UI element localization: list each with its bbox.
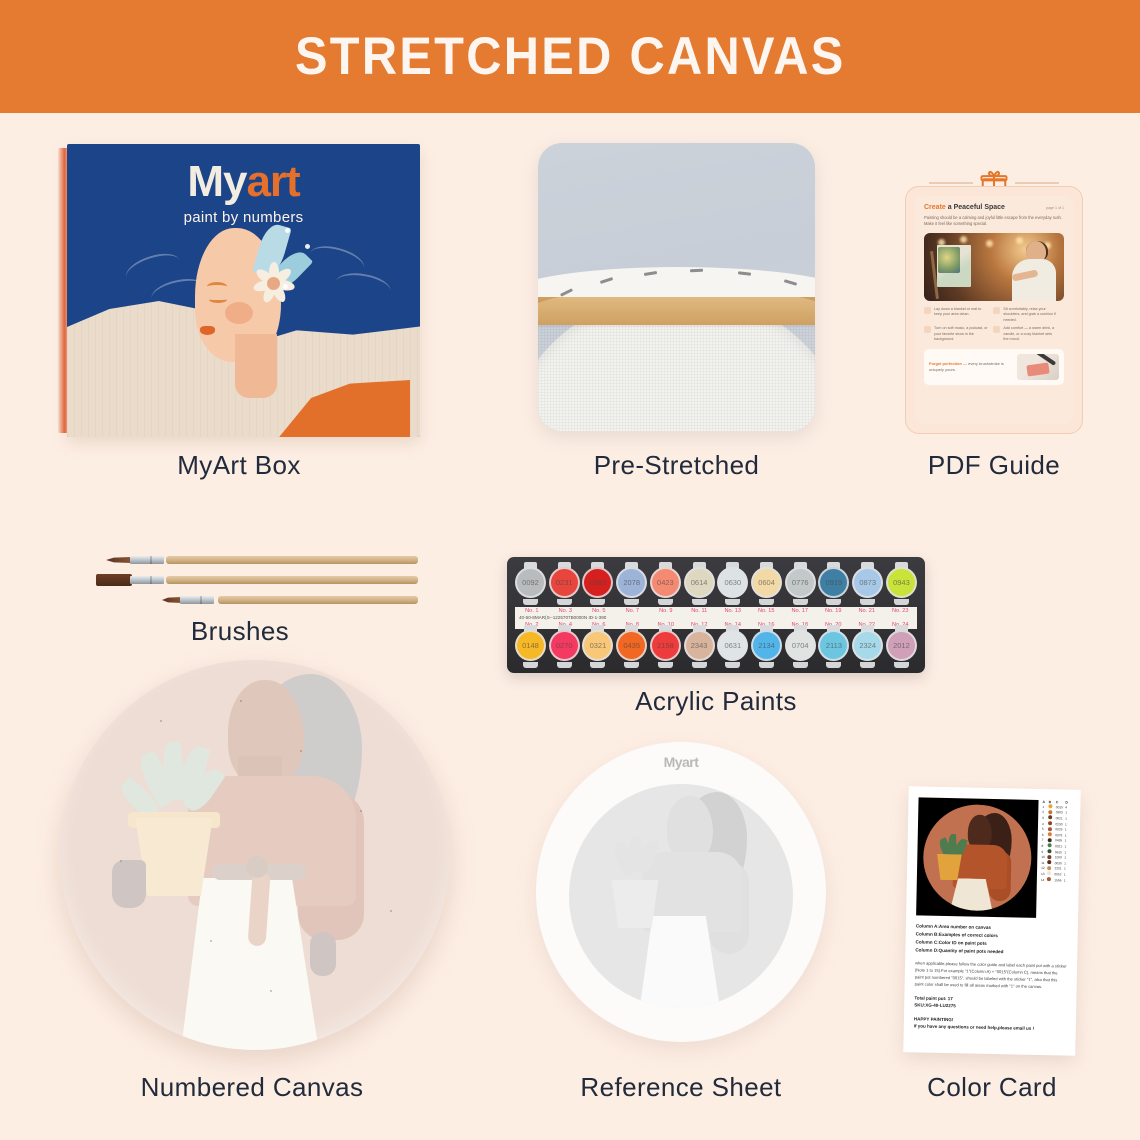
paint-pot: 0092	[515, 562, 546, 605]
color-table-body: 1001542030313002114023015002916007917043…	[1041, 804, 1071, 883]
cell-quantity: 1	[1064, 861, 1069, 865]
cell-quantity: 1	[1065, 839, 1070, 843]
cell-color-id: 0015	[1056, 805, 1066, 809]
pot-foot	[692, 599, 707, 605]
box-logo: Myart paint by numbers	[67, 160, 420, 226]
paint-pot: 2078	[616, 562, 647, 605]
pot-code: 0704	[792, 641, 809, 650]
cell-color-id: 0079	[1055, 833, 1065, 837]
artwork-circle	[922, 804, 1032, 912]
tip-icon	[924, 326, 931, 333]
pot-foot	[658, 662, 673, 668]
pot-code: 2078	[623, 578, 640, 587]
pot-body: 0270	[549, 630, 580, 661]
pot-body: 0919	[818, 567, 849, 598]
pot-code: 2113	[826, 641, 842, 650]
paint-pot: 0148	[515, 625, 546, 668]
pot-foot	[793, 662, 808, 668]
cell-swatch	[1047, 877, 1054, 882]
pot-foot	[894, 662, 909, 668]
paint-pot: 0631	[717, 625, 748, 668]
tip-icon	[993, 326, 1000, 333]
box-blue-panel: Myart paint by numbers	[67, 144, 420, 437]
paint-pot: 0231	[549, 562, 580, 605]
paint-pot: 0423	[650, 562, 681, 605]
pot-body: 0435	[616, 630, 647, 661]
acrylic-paints-image: 0092023103822078042306140630060407760919…	[507, 557, 925, 673]
brush-flat	[96, 576, 418, 584]
paint-label-top: No. 9	[649, 608, 683, 614]
pdf-note-text: Forget perfection — every brushstroke is…	[929, 361, 1012, 373]
pot-body: 0873	[852, 567, 883, 598]
canvas-folded-edge	[538, 267, 815, 297]
reference-sheet-logo: Myart	[664, 754, 699, 770]
pot-foot	[557, 662, 572, 668]
cell-color-id: 0052	[1054, 872, 1064, 876]
caption-color-card: Color Card	[900, 1072, 1084, 1103]
pot-code: 2324	[859, 641, 876, 650]
caption-pre-stretched: Pre-Stretched	[538, 450, 815, 481]
paint-label-top: No. 17	[783, 608, 817, 614]
paint-pot: 0614	[684, 562, 715, 605]
pot-body: 0423	[650, 567, 681, 598]
paint-label-top: No. 7	[616, 608, 650, 614]
pot-body: 0776	[785, 567, 816, 598]
canvas-artwork	[60, 660, 450, 1050]
brushes-image	[62, 548, 418, 610]
cell-quantity: 1	[1064, 856, 1069, 860]
paint-label-top: No. 11	[683, 608, 717, 614]
cell-color-id: 0303	[1056, 811, 1066, 815]
pot-foot	[523, 599, 538, 605]
cell-color-id: 1000	[1055, 855, 1065, 859]
pdf-tip-item: Lay down a blanket or mat to keep your a…	[924, 307, 988, 324]
caption-brushes: Brushes	[62, 616, 418, 647]
paint-label-top: No. 23	[884, 608, 918, 614]
pot-code: 0321	[590, 641, 607, 650]
color-card-footer: HAPPY PAINTING! if you have any question…	[914, 1015, 1066, 1033]
pot-foot	[692, 662, 707, 668]
pot-body: 0604	[751, 567, 782, 598]
pot-body: 0092	[515, 567, 546, 598]
cell-color-id: 0021	[1055, 844, 1065, 848]
pdf-sheet: Create a Peaceful Space page 1 of 1 Pain…	[915, 196, 1073, 424]
woman-eye	[209, 296, 227, 303]
cell-quantity: 1	[1064, 878, 1069, 882]
cell-swatch	[1048, 832, 1055, 837]
logo-my-text: My	[187, 157, 246, 206]
header-banner: STRETCHED CANVAS	[0, 0, 1140, 113]
color-card-legend: Column A:Area number on canvas Column B:…	[915, 922, 1068, 957]
brush-detail	[162, 596, 418, 604]
pot-code: 0382	[590, 578, 607, 587]
divider-line	[1015, 182, 1059, 184]
paint-strip-code: 40-50-8MAR(S--1225707B0000N ID-1-390	[519, 615, 606, 620]
paint-pot: 0630	[717, 562, 748, 605]
cell-swatch	[1047, 866, 1054, 871]
pot-foot	[590, 662, 605, 668]
cell-swatch	[1048, 810, 1055, 815]
pot-foot	[523, 662, 538, 668]
page-title: STRETCHED CANVAS	[295, 26, 846, 87]
cell-swatch	[1047, 855, 1054, 860]
pot-body: 0614	[684, 567, 715, 598]
woman-brow	[207, 282, 227, 291]
cell-quantity: 1	[1065, 811, 1070, 815]
pdf-guide-image: Create a Peaceful Space page 1 of 1 Pain…	[905, 162, 1083, 434]
paint-pot: 0321	[582, 625, 613, 668]
paint-label-top: No. 13	[716, 608, 750, 614]
woman-hand-holding-pot	[112, 860, 146, 908]
cell-color-id: 0030	[1055, 861, 1065, 865]
paint-pot: 0604	[751, 562, 782, 605]
myart-box-image: Myart paint by numbers	[58, 144, 420, 437]
pot-code: 0873	[859, 578, 876, 587]
caption-pdf-guide: PDF Guide	[905, 450, 1083, 481]
pot-body: 0631	[717, 630, 748, 661]
paint-label-top: No. 3	[549, 608, 583, 614]
pot-body: 0321	[582, 630, 613, 661]
cell-quantity: 1	[1065, 816, 1070, 820]
woman-lips	[200, 326, 215, 335]
woman-neck	[235, 334, 277, 398]
cell-quantity: 1	[1065, 828, 1070, 832]
pot-foot	[759, 662, 774, 668]
pot-foot	[590, 599, 605, 605]
cell-color-id: 1556	[1054, 878, 1064, 882]
pot-foot	[725, 662, 740, 668]
caption-reference-sheet: Reference Sheet	[536, 1072, 826, 1103]
paint-label-top: No. 21	[850, 608, 884, 614]
pot-body: 0943	[886, 567, 917, 598]
pot-code: 2158	[657, 641, 674, 650]
pot-foot	[860, 599, 875, 605]
pot-foot	[658, 599, 673, 605]
caption-numbered-canvas: Numbered Canvas	[55, 1072, 449, 1103]
caption-myart-box: MyArt Box	[58, 450, 420, 481]
paint-pot: 0776	[785, 562, 816, 605]
color-card-totals: Total paint pot: 17 SKU:XG-40-LU2275	[914, 994, 1066, 1012]
belt-knot	[246, 856, 268, 878]
pot-body: 2343	[684, 630, 715, 661]
paint-pot: 2324	[852, 625, 883, 668]
pot-body: 2012	[886, 630, 917, 661]
paint-pot: 0435	[616, 625, 647, 668]
pot-code: 0270	[556, 641, 573, 650]
pot-code: 0614	[691, 578, 708, 587]
color-card-image: A B C D 10015420303130021140230150029160…	[903, 786, 1081, 1056]
pdf-page-label: page 1 of 1	[1046, 206, 1064, 210]
pot-code: 2343	[691, 641, 708, 650]
pot-code: 0231	[556, 578, 573, 587]
paint-label-top: No. 1	[515, 608, 549, 614]
staple	[690, 269, 703, 272]
pot-foot	[624, 599, 639, 605]
paint-pot: 0919	[818, 562, 849, 605]
color-table: A B C D 10015420303130021140230150029160…	[1040, 800, 1070, 919]
pot-foot	[793, 599, 808, 605]
brush-round-fine	[106, 556, 418, 564]
cell-color-id: 0615	[1055, 850, 1065, 854]
pdf-tip-item: Turn on soft music, a podcast, or your f…	[924, 326, 988, 343]
color-card-top: A B C D 10015420303130021140230150029160…	[916, 797, 1070, 918]
pdf-note: Forget perfection — every brushstroke is…	[924, 349, 1064, 385]
color-table-row: 1415561	[1041, 877, 1069, 883]
pot-code: 0092	[522, 578, 539, 587]
pot-body: 0231	[549, 567, 580, 598]
cell-quantity: 1	[1064, 850, 1069, 854]
paint-pot: 2012	[886, 625, 917, 668]
pot-body: 2113	[818, 630, 849, 661]
paint-pot-row-bottom: 0148027003210435215823430631213407042113…	[515, 625, 917, 668]
pdf-header: Create a Peaceful Space page 1 of 1	[924, 204, 1064, 211]
paint-pot: 0382	[582, 562, 613, 605]
divider-line	[929, 182, 973, 184]
pot-code: 0631	[724, 641, 741, 650]
tip-icon	[924, 307, 931, 314]
pdf-tip-item: Add comfort — a warm drink, a candle, or…	[993, 326, 1057, 343]
pot-code: 0919	[826, 578, 843, 587]
pot-foot	[894, 599, 909, 605]
pot-foot	[725, 599, 740, 605]
pdf-intro-text: Painting should be a calming and joyful …	[924, 215, 1064, 228]
paint-pot: 2158	[650, 625, 681, 668]
pot-body: 0148	[515, 630, 546, 661]
pot-foot	[624, 662, 639, 668]
pot-code: 0148	[522, 641, 539, 650]
paint-label-top: No. 15	[750, 608, 784, 614]
box-tagline: paint by numbers	[67, 209, 420, 226]
color-card-instructions: when applicable,please follow the color …	[915, 959, 1068, 991]
paint-pot: 2134	[751, 625, 782, 668]
pot-foot	[826, 662, 841, 668]
pot-foot	[759, 599, 774, 605]
pot-body: 2134	[751, 630, 782, 661]
caption-acrylic-paints: Acrylic Paints	[507, 686, 925, 717]
cell-quantity: 1	[1064, 844, 1069, 848]
pot-code: 0776	[792, 578, 809, 587]
pdf-note-image	[1017, 354, 1059, 380]
cell-swatch	[1048, 844, 1055, 849]
paint-pot: 2343	[684, 625, 715, 668]
pot-code: 0435	[623, 641, 640, 650]
cell-quantity: 4	[1065, 805, 1070, 809]
pot-code: 0943	[893, 578, 910, 587]
pot-code: 0630	[724, 578, 741, 587]
paint-pot-row-top: 0092023103822078042306140630060407760919…	[515, 562, 917, 605]
logo-art-text: art	[246, 157, 299, 206]
pot-body: 2158	[650, 630, 681, 661]
paint-pot: 0704	[785, 625, 816, 668]
pot-code: 0423	[657, 578, 674, 587]
numbered-canvas-image	[60, 660, 450, 1050]
cell-color-id: 0230	[1055, 822, 1065, 826]
cell-quantity: 1	[1065, 833, 1070, 837]
paint-pot: 0873	[852, 562, 883, 605]
color-card-artwork	[916, 797, 1038, 917]
cell-quantity: 1	[1065, 822, 1070, 826]
pot-body: 0630	[717, 567, 748, 598]
pot-code: 2134	[758, 641, 775, 650]
paint-label-top: No. 19	[817, 608, 851, 614]
flower-icon	[253, 262, 295, 304]
cell-color-id: 0029	[1055, 827, 1065, 831]
pre-stretched-image	[538, 143, 815, 431]
woman-hand	[310, 932, 336, 976]
cell-swatch	[1048, 821, 1055, 826]
cell-color-id: 0435	[1055, 839, 1065, 843]
reference-sheet-image: Myart	[536, 742, 826, 1042]
pot-foot	[826, 599, 841, 605]
paint-pot: 2113	[818, 625, 849, 668]
box-front-face: Myart paint by numbers	[67, 144, 420, 437]
paint-label-top: No. 5	[582, 608, 616, 614]
paint-pot: 0943	[886, 562, 917, 605]
pot-body: 2078	[616, 567, 647, 598]
cell-color-id: 2251	[1054, 867, 1064, 871]
pot-foot	[860, 662, 875, 668]
pdf-title: Create a Peaceful Space	[924, 204, 1005, 211]
pot-foot	[557, 599, 572, 605]
tip-icon	[993, 307, 1000, 314]
pot-body: 0382	[582, 567, 613, 598]
infographic-page: STRETCHED CANVAS	[0, 0, 1140, 1140]
cell-color-id: 0021	[1056, 816, 1066, 820]
paint-pot: 0270	[549, 625, 580, 668]
pot-body: 2324	[852, 630, 883, 661]
pdf-tip-item: Sit comfortably, relax your shoulders, a…	[993, 307, 1057, 324]
reference-sheet-artwork	[569, 784, 793, 1008]
pdf-photo	[924, 233, 1064, 301]
woman-cheek	[225, 302, 253, 324]
pot-body: 0704	[785, 630, 816, 661]
cell-quantity: 1	[1064, 872, 1069, 876]
cell-quantity: 1	[1064, 867, 1069, 871]
pot-code: 0604	[758, 578, 775, 587]
pdf-tips-list: Lay down a blanket or mat to keep your a…	[924, 307, 1064, 343]
pot-code: 2012	[893, 641, 910, 650]
pdf-card: Create a Peaceful Space page 1 of 1 Pain…	[905, 186, 1083, 434]
